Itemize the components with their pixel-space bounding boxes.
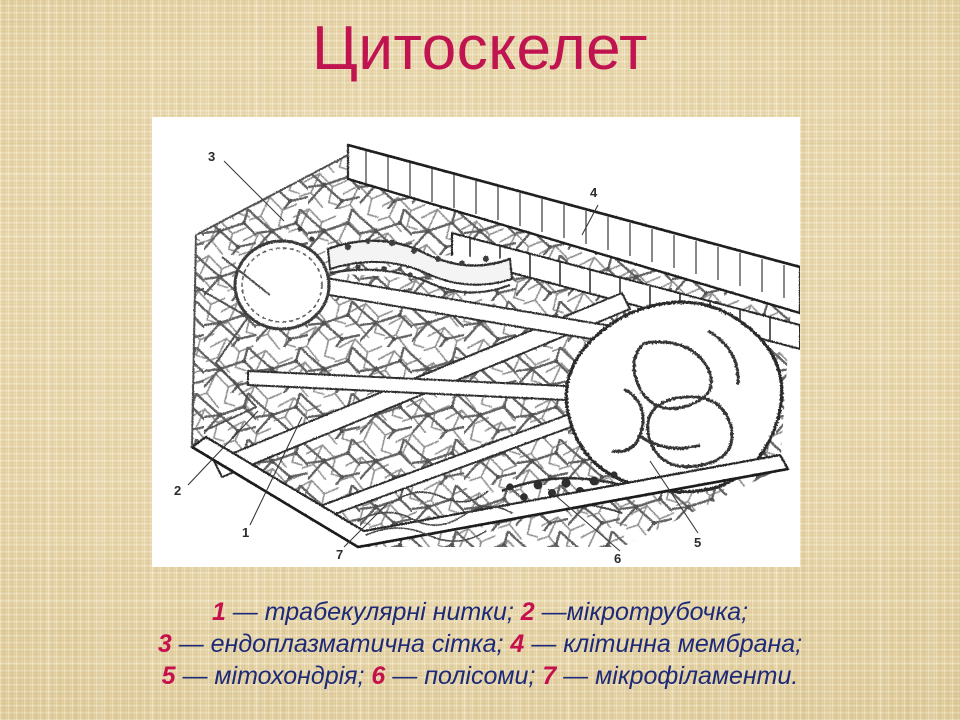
caption-text: — ендоплазматична сітка;: [172, 630, 511, 658]
callout-3: 3: [208, 149, 215, 164]
caption-text: — трабекулярні нитки;: [226, 598, 521, 626]
callout-1: 1: [242, 525, 249, 540]
slide-canvas: Цитоскелет: [0, 0, 960, 720]
caption-text: —мікротрубочка;: [535, 598, 748, 626]
caption-text: — мікрофіламенти.: [556, 662, 798, 690]
caption-text: — мітохондрія;: [176, 662, 372, 690]
caption-number: 2: [521, 598, 535, 626]
caption-line: 5 — мітохондрія; 6 — полісоми; 7 — мікро…: [0, 660, 960, 692]
figure-panel: 3 4 2 1 7 6 5: [152, 117, 800, 567]
caption-number: 6: [371, 662, 385, 690]
callout-5: 5: [694, 535, 701, 550]
caption-number: 4: [510, 630, 524, 658]
caption-number: 5: [162, 662, 176, 690]
figure-caption: 1 — трабекулярні нитки; 2 —мікротрубочка…: [0, 596, 960, 692]
caption-number: 1: [212, 598, 226, 626]
caption-text: — клітинна мембрана;: [524, 630, 802, 658]
page-title: Цитоскелет: [0, 16, 960, 81]
caption-line: 3 — ендоплазматична сітка; 4 — клітинна …: [0, 628, 960, 660]
callout-6: 6: [614, 551, 621, 566]
caption-text: — полісоми;: [385, 662, 542, 690]
callout-4: 4: [590, 185, 598, 200]
caption-line: 1 — трабекулярні нитки; 2 —мікротрубочка…: [0, 596, 960, 628]
caption-number: 3: [158, 630, 172, 658]
caption-number: 7: [542, 662, 556, 690]
cytoskeleton-diagram: 3 4 2 1 7 6 5: [152, 117, 800, 567]
callout-7: 7: [336, 547, 343, 562]
callout-2: 2: [174, 483, 181, 498]
